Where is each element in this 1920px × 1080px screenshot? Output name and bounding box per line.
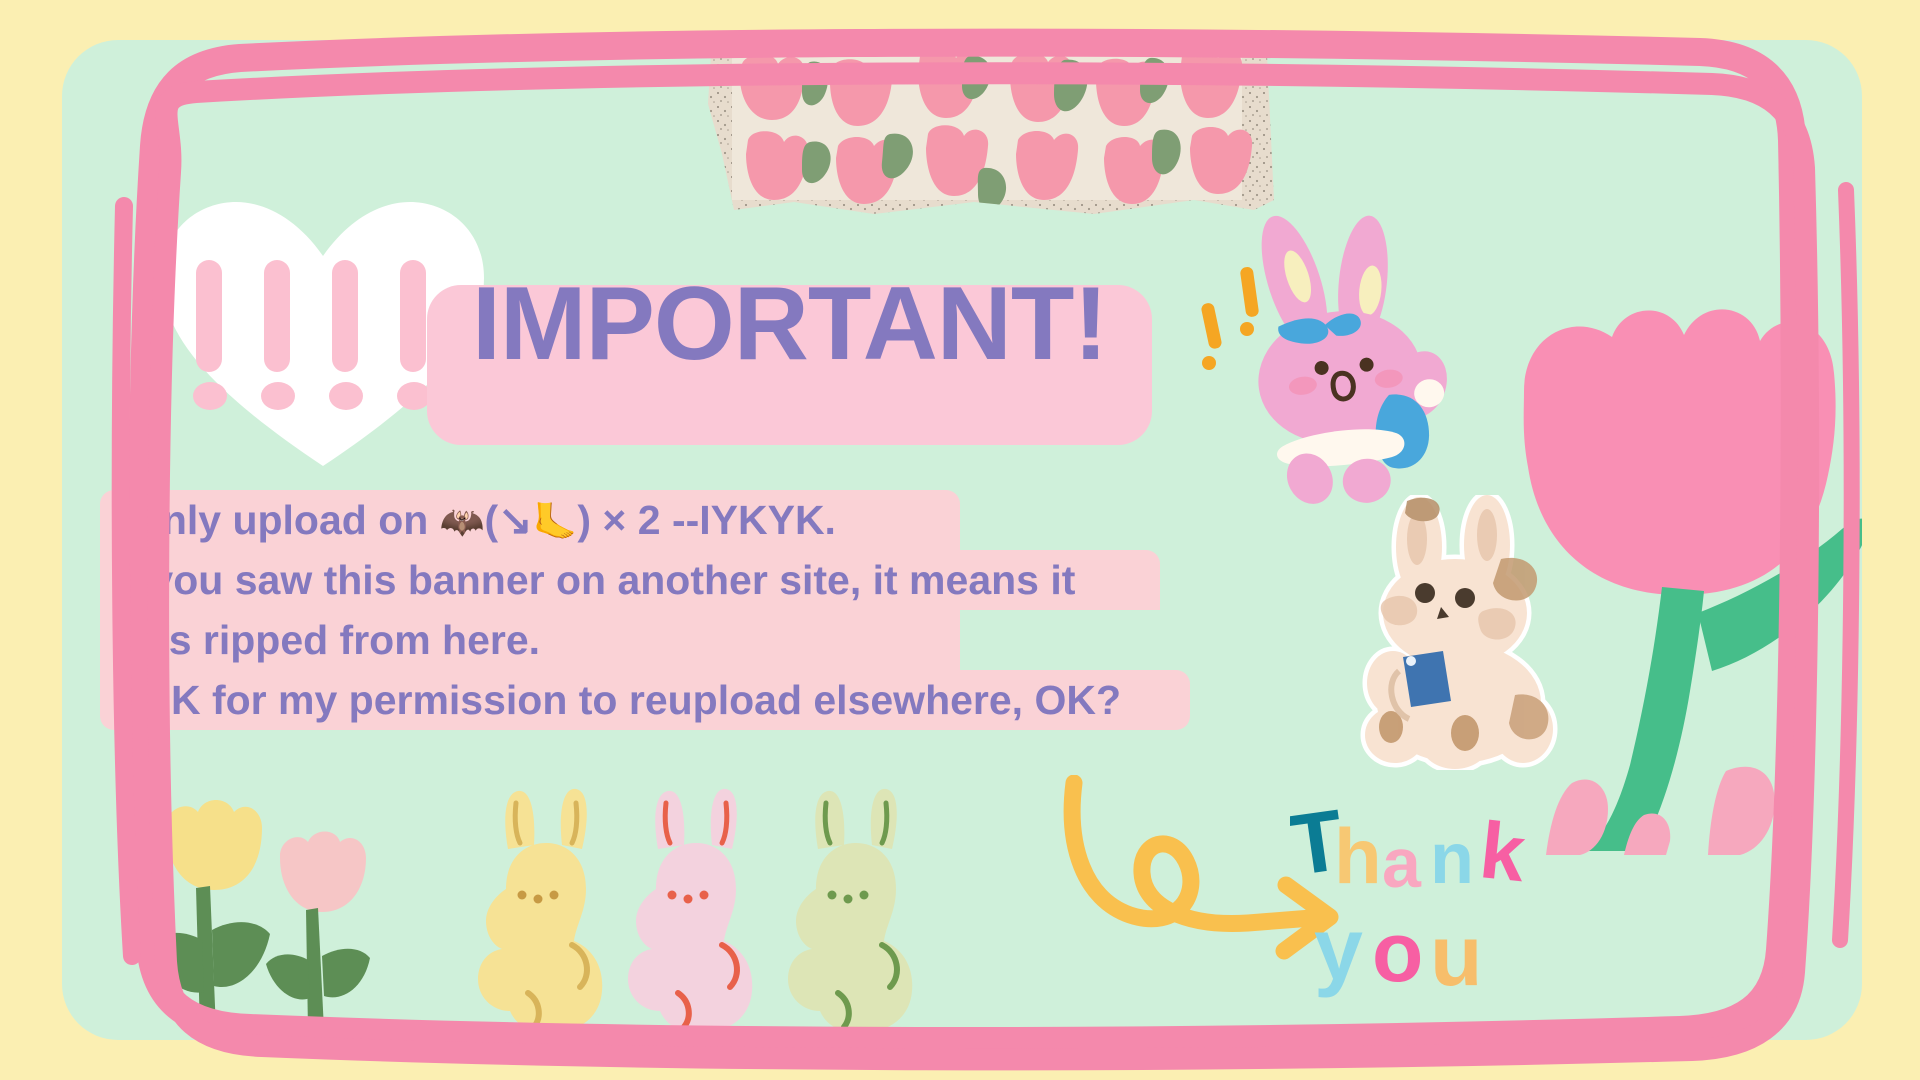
banner-canvas: T h a n k y o u — [0, 0, 1920, 1080]
hand-drawn-pink-frame — [0, 0, 1920, 1080]
